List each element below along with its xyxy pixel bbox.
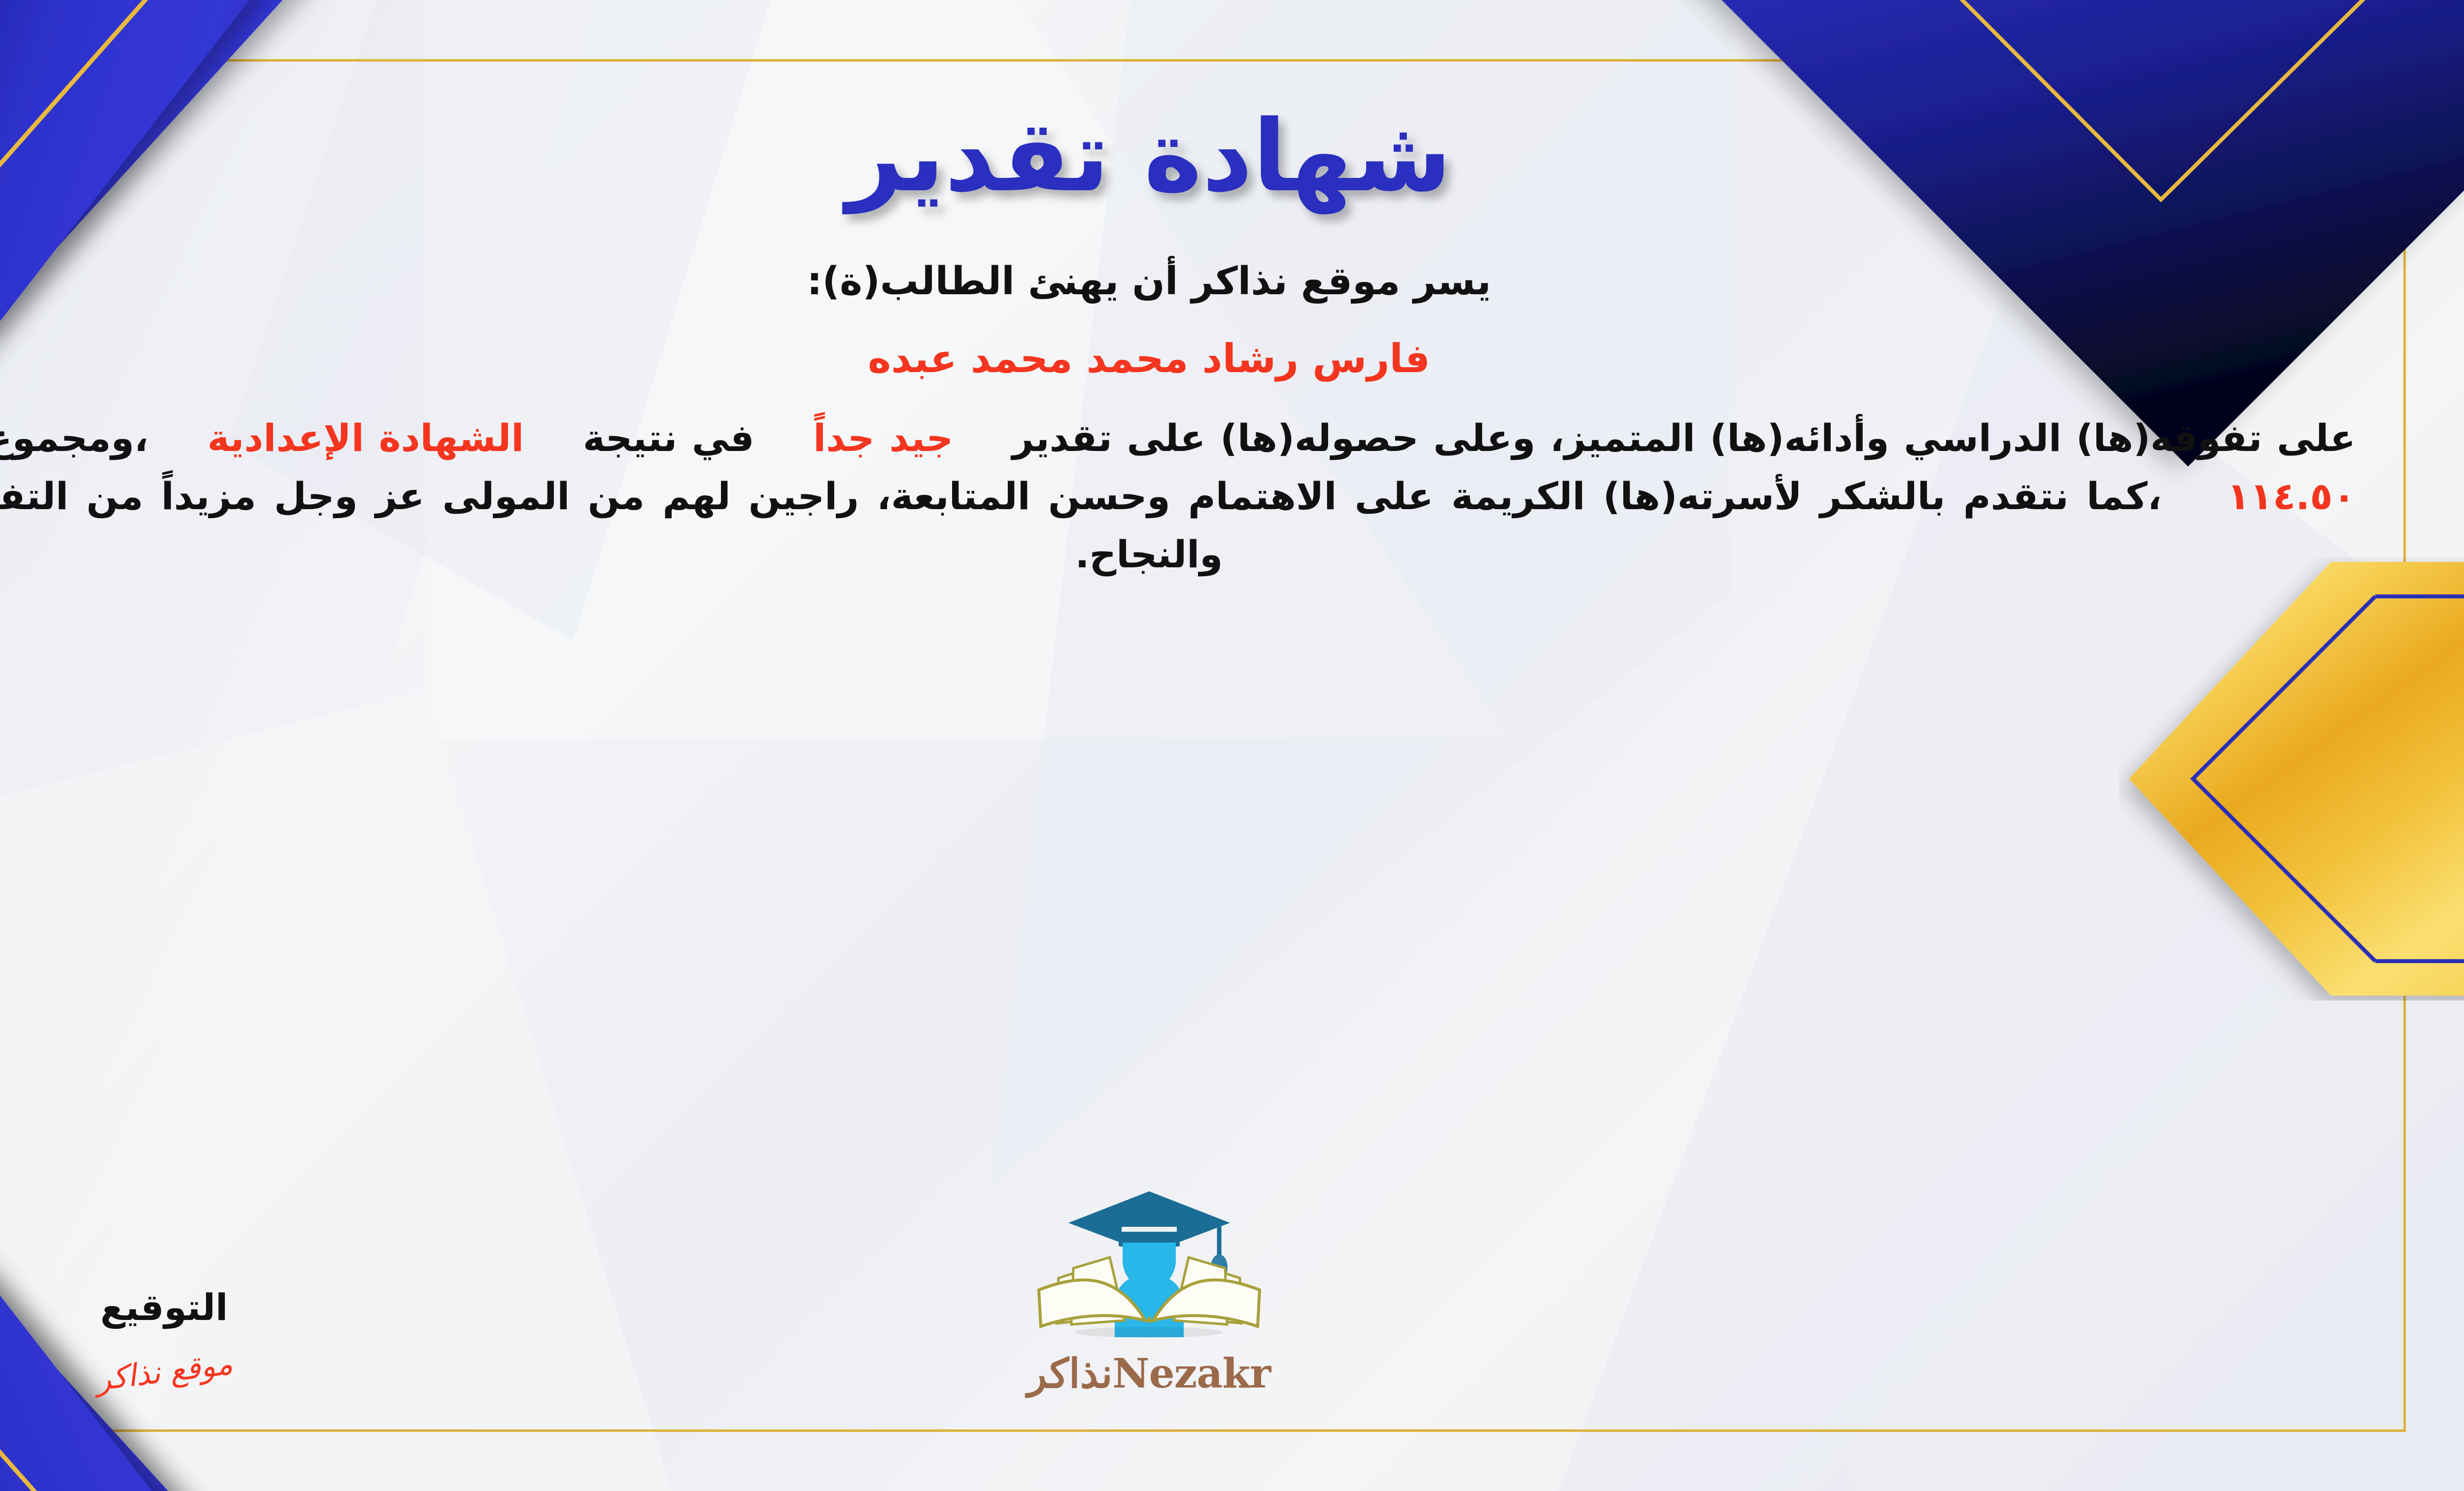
student-name: فارس رشاد محمد محمد عبده: [0, 331, 2390, 387]
certificate-title-text: شهادة تقدير: [846, 99, 1451, 214]
signature-block: التوقيع موقع نذاكر: [0, 1286, 351, 1397]
certificate-footer: التوقيع موقع نذاكر: [0, 1184, 2390, 1417]
grade-value: جيد جداً: [813, 416, 953, 460]
body-segment-4: ،كما نتقدم بالشكر لأسرته(ها) الكريمة على…: [0, 474, 2162, 576]
certificate-title: شهادة تقدير: [0, 75, 2390, 238]
total-score: ١١٤.٥٠: [2227, 474, 2356, 518]
body-paragraph: على تفوقه(ها) الدراسي وأدائه(ها) المتميز…: [0, 409, 2390, 583]
exam-name: الشهادة الإعدادية: [207, 416, 524, 460]
body-segment-2: في نتيجة: [583, 416, 754, 460]
body-segment-3: ،ومجموع: [0, 416, 148, 460]
logo-arabic-text: نذاكر: [1027, 1350, 1113, 1397]
logo-latin-text: Nezakr: [1113, 1350, 1271, 1397]
body-segment-1: على تفوقه(ها) الدراسي وأدائه(ها) المتميز…: [1012, 416, 2356, 460]
certificate-body: يسر موقع نذاكر أن يهنئ الطالب(ة): فارس ر…: [0, 254, 2390, 584]
intro-line: يسر موقع نذاكر أن يهنئ الطالب(ة):: [0, 254, 2390, 309]
grad-cap-band-stripe: [1122, 1227, 1177, 1232]
certificate-page: شهادة تقدير يسر موقع نذاكر أن يهنئ الطال…: [0, 0, 2464, 1491]
logo-wordmark: Nezakrنذاكر: [1027, 1350, 1271, 1397]
graduate-book-icon: [1031, 1184, 1267, 1347]
site-logo: Nezakrنذاكر: [927, 1184, 1371, 1397]
signature-script: موقع نذاكر: [94, 1345, 234, 1397]
signature-label: التوقيع: [101, 1286, 228, 1329]
certificate-content: شهادة تقدير يسر موقع نذاكر أن يهنئ الطال…: [0, 69, 2390, 1417]
book-shadow: [1075, 1327, 1223, 1338]
